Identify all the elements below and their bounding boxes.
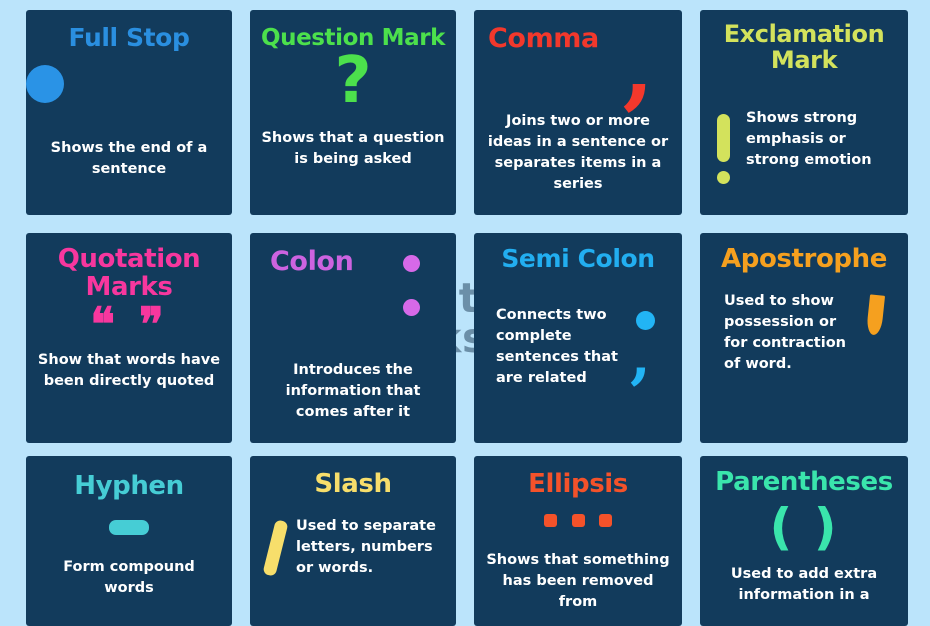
semi-colon-content-row: Connects two complete sentences that are… [474,305,682,389]
card-title: Hyphen [26,456,232,500]
slash-stroke [262,519,288,576]
card-description: Shows strong emphasis or strong emotion [736,108,898,171]
colon-glyph [403,255,420,316]
question-mark-glyph: ? [250,53,456,111]
colon-dot-top [403,255,420,272]
card-title: Apostrophe [700,233,908,273]
card-description: Shows that something has been removed fr… [474,550,682,613]
ellipsis-dot-3 [599,514,612,527]
card-description: Joins two or more ideas in a sentence or… [474,111,682,195]
card-colon[interactable]: Colon Introduces the information that co… [250,233,456,443]
exclamation-bar [717,114,730,162]
card-full-stop[interactable]: Full Stop Shows the end of a sentence [26,10,232,215]
ellipsis-dot-1 [544,514,557,527]
card-title: Colon [250,233,456,276]
apostrophe-glyph [856,291,894,375]
card-comma[interactable]: Comma , Joins two or more ideas in a sen… [474,10,682,215]
card-description: Form compound words [26,557,232,599]
card-title: Exclamation Mark [700,10,908,74]
slash-glyph [260,516,290,579]
full-stop-dot-glyph [26,65,64,103]
hyphen-glyph [109,520,149,535]
card-title: Semi Colon [474,233,682,272]
card-description: Shows the end of a sentence [26,138,232,180]
card-exclamation-mark[interactable]: Exclamation Mark Shows strong emphasis o… [700,10,908,215]
exclamation-mark-glyph [710,108,736,184]
card-title: Ellipsis [474,456,682,498]
card-description: Used to show possession or for contracti… [714,291,856,375]
card-description: Shows that a question is being asked [250,128,456,170]
exclamation-content-row: Shows strong emphasis or strong emotion [700,108,908,184]
apostrophe-content-row: Used to show possession or for contracti… [700,291,908,375]
card-description: Connects two complete sentences that are… [486,305,628,389]
card-slash[interactable]: Slash Used to separate letters, numbers … [250,456,456,626]
card-description: Introduces the information that comes af… [250,360,456,423]
apostrophe-tick [865,294,884,335]
card-quotation-marks[interactable]: Quotation Marks ❝ ❞ Show that words have… [26,233,232,443]
card-title: Slash [250,456,456,498]
card-hyphen[interactable]: Hyphen Form compound words [26,456,232,626]
card-title: Full Stop [26,10,232,51]
semi-colon-tail: , [630,327,651,387]
card-apostrophe[interactable]: Apostrophe Used to show possession or fo… [700,233,908,443]
slash-content-row: Used to separate letters, numbers or wor… [250,516,456,579]
exclamation-dot [717,171,730,184]
ellipsis-dot-2 [572,514,585,527]
punctuation-card-grid: Full Stop Shows the end of a sentence Qu… [0,0,930,620]
card-semi-colon[interactable]: Semi Colon Connects two complete sentenc… [474,233,682,443]
parentheses-glyph: ( ) [700,502,908,552]
quotation-marks-glyph: ❝ ❞ [26,307,232,342]
card-title: Parentheses [700,456,908,496]
card-ellipsis[interactable]: Ellipsis Shows that something has been r… [474,456,682,626]
colon-dot-bottom [403,299,420,316]
card-title: Quotation Marks [26,233,232,301]
infographic-board: Punctuation Marks .org Full Stop Shows t… [0,0,930,620]
comma-glyph: , [623,22,654,112]
card-question-mark[interactable]: Question Mark ? Shows that a question is… [250,10,456,215]
card-description: Show that words have been directly quote… [26,350,232,392]
ellipsis-glyph [474,514,682,532]
card-parentheses[interactable]: Parentheses ( ) Used to add extra inform… [700,456,908,626]
card-description: Used to add extra information in a [700,564,908,606]
card-description: Used to separate letters, numbers or wor… [290,516,446,579]
semi-colon-glyph: , [628,305,670,389]
